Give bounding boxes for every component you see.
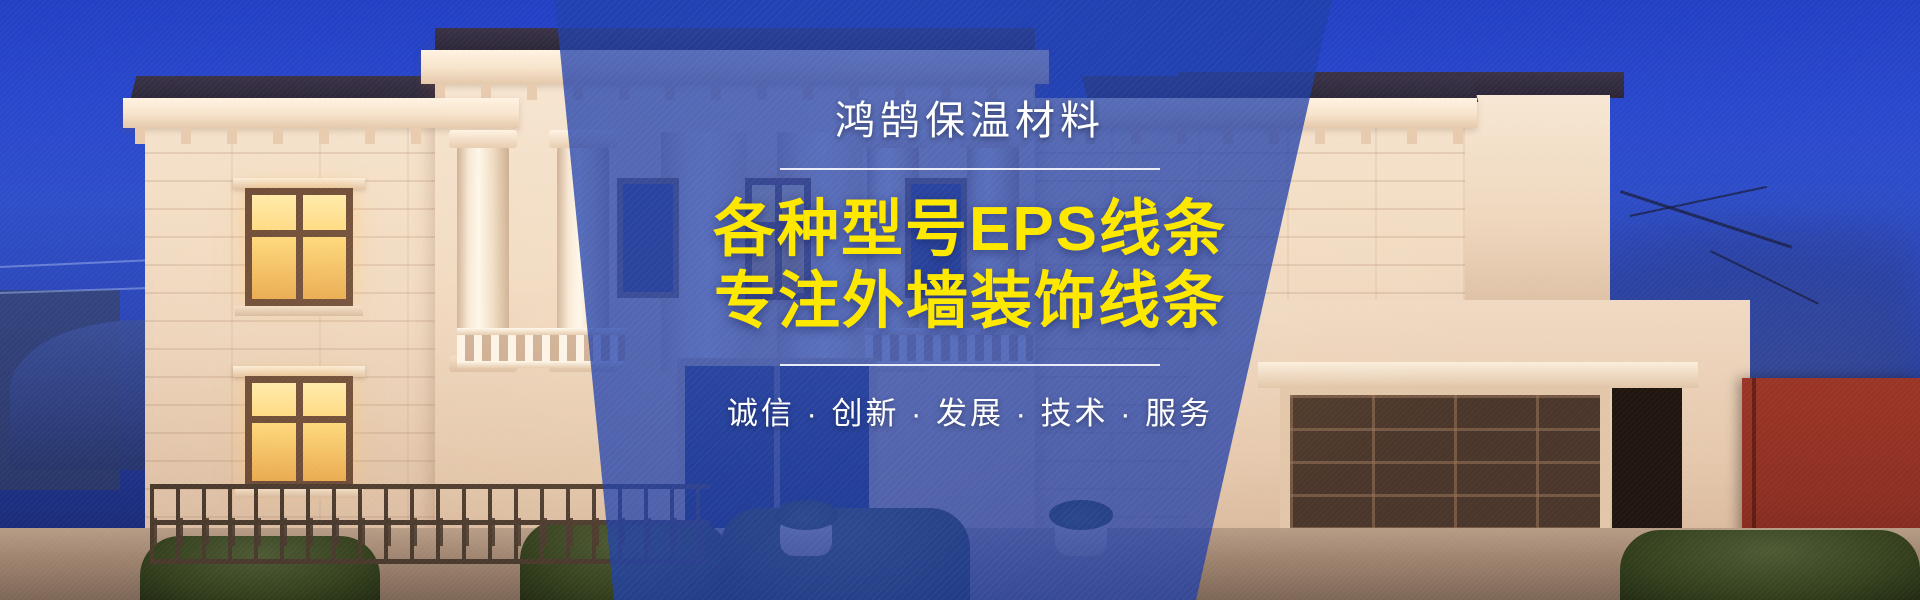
stone-column — [557, 146, 609, 358]
window-mullion-vertical — [296, 195, 303, 299]
planter-urn — [1055, 522, 1107, 556]
roof-center — [435, 28, 1035, 52]
promotional-banner: 鸿鹄保温材料 各种型号EPS线条 专注外墙装饰线条 诚信 · 创新 · 发展 ·… — [0, 0, 1920, 600]
company-name: 鸿鹄保温材料 — [690, 96, 1250, 146]
hedge — [720, 508, 970, 600]
balustrade-rail — [457, 328, 625, 335]
headline-line-1: 各种型号EPS线条 — [690, 194, 1250, 266]
divider-top — [780, 168, 1160, 170]
divider-bottom — [780, 364, 1160, 366]
cornice-center — [421, 50, 1049, 84]
cornice-left — [123, 98, 519, 128]
window-mullion-horizontal — [252, 230, 346, 237]
balustrade-rail — [457, 361, 625, 368]
headline-line-2: 专注外墙装饰线条 — [690, 266, 1250, 338]
planter-urn — [780, 522, 832, 556]
dark-window — [617, 178, 679, 298]
tagline: 诚信 · 创新 · 发展 · 技术 · 服务 — [690, 388, 1250, 433]
stone-column — [457, 146, 509, 358]
banner-text-block: 鸿鹄保温材料 各种型号EPS线条 专注外墙装饰线条 诚信 · 创新 · 发展 ·… — [690, 96, 1250, 433]
window-sill — [235, 306, 363, 316]
iron-fence — [150, 480, 710, 570]
window-mullion-vertical — [296, 383, 303, 481]
window-mullion-horizontal — [252, 416, 346, 423]
balustrade-posts — [457, 335, 625, 361]
hedge — [1620, 530, 1920, 600]
fence-rail — [150, 520, 710, 525]
balustrade — [457, 328, 625, 368]
lit-window — [245, 188, 353, 306]
fence-rail — [150, 559, 710, 564]
fence-rail — [150, 484, 710, 489]
lit-window — [245, 376, 353, 488]
